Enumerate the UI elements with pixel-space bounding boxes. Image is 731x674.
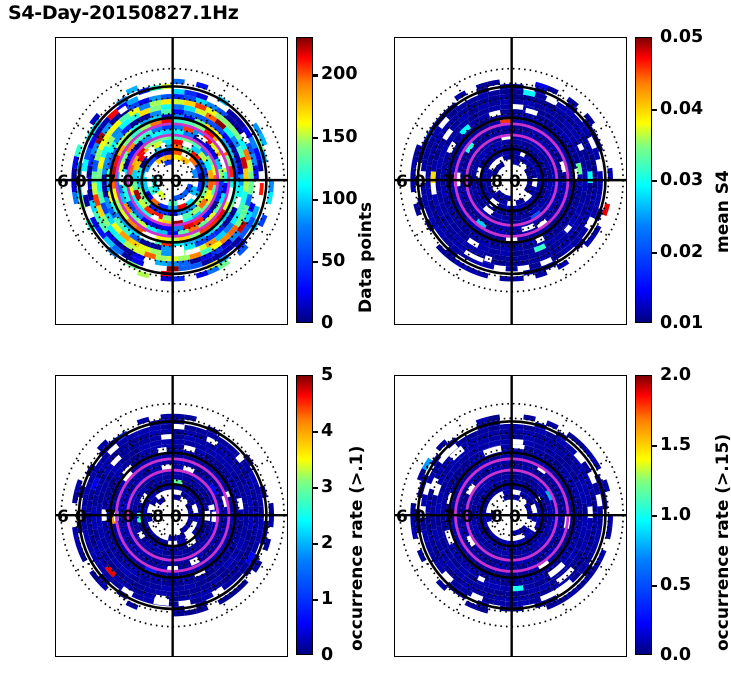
colorbar-tick [313, 199, 318, 201]
panel-occurrence-rate-gt-point1[interactable]: 60 70 80 [55, 375, 288, 657]
radial-tick-labels: 60 70 80 [57, 507, 188, 527]
colorbar-gradient [296, 375, 313, 655]
colorbar-tick [313, 431, 318, 433]
figure-canvas: S4-Day-20150827.1Hz 60 70 80 20015010050… [0, 0, 731, 674]
colorbar-tick [313, 543, 318, 545]
colorbar-label-occurrence-rate-gt-point1: occurrence rate (>.1) [347, 446, 367, 651]
radial-tick-labels: 60 70 80 [396, 172, 527, 192]
colorbar-tick-label: 150 [321, 127, 358, 147]
colorbar-tick [652, 252, 657, 254]
colorbar-mean-s4: 0.050.040.030.020.01 [635, 37, 652, 323]
colorbar-tick-label: 50 [321, 251, 345, 271]
colorbar-occurrence-rate-gt-point15: 2.01.51.00.50.0 [635, 375, 652, 655]
colorbar-tick [313, 261, 318, 263]
panel-mean-s4[interactable]: 60 70 80 [394, 37, 627, 325]
colorbar-tick-label: 2 [321, 533, 333, 553]
colorbar-tick-label: 200 [321, 64, 358, 84]
colorbar-tick [652, 109, 657, 111]
skyplot-occurrence-rate-gt-point1: 60 70 80 [55, 375, 288, 657]
skyplot-data-points: 60 70 80 [55, 37, 288, 325]
colorbar-tick [652, 585, 657, 587]
colorbar-gradient [296, 37, 313, 323]
colorbar-data-points: 200150100500 [296, 37, 313, 323]
colorbar-tick-label: 1.5 [660, 435, 691, 455]
colorbar-gradient [635, 375, 652, 655]
colorbar-tick-label: 0.01 [660, 313, 703, 333]
page-title: S4-Day-20150827.1Hz [8, 2, 239, 24]
radial-tick-labels: 60 70 80 [57, 172, 188, 192]
colorbar-tick-label: 0.04 [660, 99, 703, 119]
radial-tick-labels: 60 70 80 [396, 507, 527, 527]
colorbar-tick-label: 5 [321, 365, 333, 385]
colorbar-tick [313, 137, 318, 139]
colorbar-label-data-points: Data points [356, 202, 376, 313]
colorbar-tick-label: 0.0 [660, 645, 691, 665]
colorbar-tick-label: 0 [321, 313, 333, 333]
skyplot-occurrence-rate-gt-point15: 60 70 80 [394, 375, 627, 657]
colorbar-tick [652, 515, 657, 517]
colorbar-tick-label: 100 [321, 189, 358, 209]
colorbar-tick-label: 3 [321, 477, 333, 497]
colorbar-tick-label: 0 [321, 645, 333, 665]
colorbar-tick-label: 0.03 [660, 170, 703, 190]
colorbar-tick-label: 0.5 [660, 575, 691, 595]
colorbar-occurrence-rate-gt-point1: 543210 [296, 375, 313, 655]
colorbar-tick-label: 0.05 [660, 27, 703, 47]
panel-data-points[interactable]: 60 70 80 [55, 37, 288, 325]
colorbar-tick-label: 0.02 [660, 242, 703, 262]
colorbar-gradient [635, 37, 652, 323]
colorbar-tick-label: 2.0 [660, 365, 691, 385]
colorbar-label-mean-s4: mean S4 [713, 170, 731, 253]
colorbar-tick [313, 599, 318, 601]
colorbar-label-occurrence-rate-gt-point15: occurrence rate (>.15) [713, 434, 731, 651]
colorbar-tick [313, 74, 318, 76]
colorbar-tick-label: 1.0 [660, 505, 691, 525]
colorbar-tick [652, 180, 657, 182]
colorbar-tick-label: 4 [321, 421, 333, 441]
panel-occurrence-rate-gt-point15[interactable]: 60 70 80 [394, 375, 627, 657]
colorbar-tick-label: 1 [321, 589, 333, 609]
skyplot-mean-s4: 60 70 80 [394, 37, 627, 325]
colorbar-tick [652, 445, 657, 447]
colorbar-tick [313, 487, 318, 489]
